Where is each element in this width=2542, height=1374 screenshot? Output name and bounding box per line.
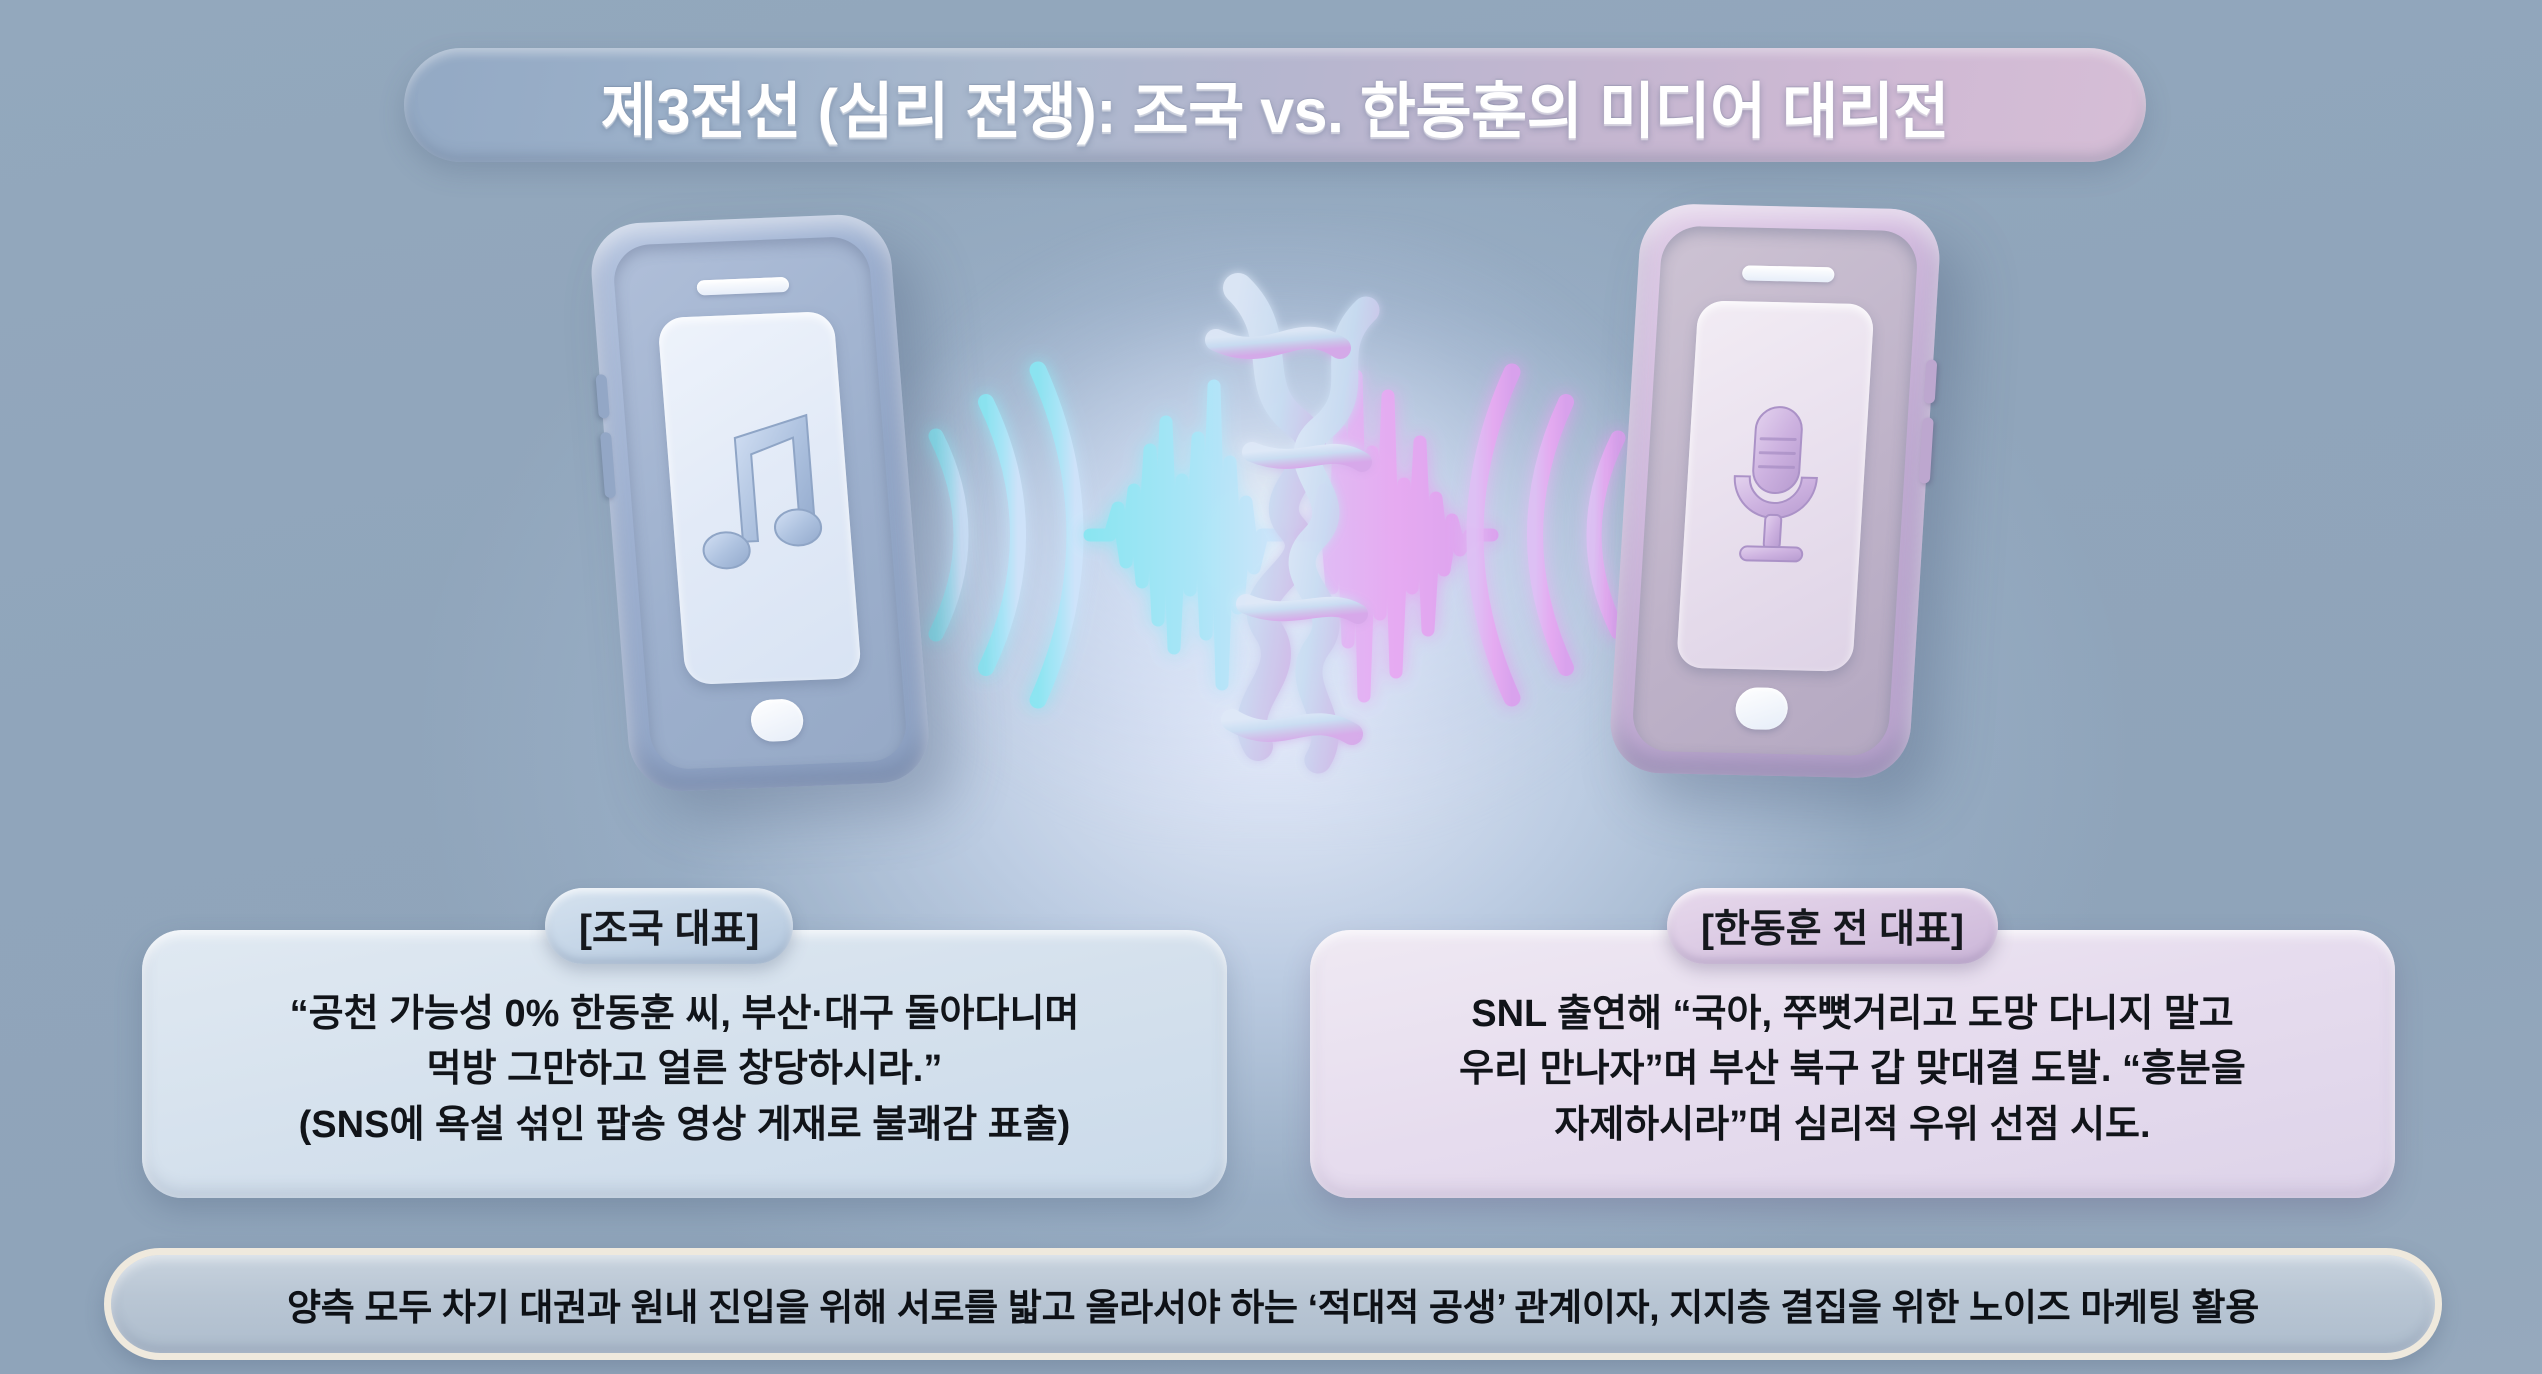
right-phone-side-button-1 xyxy=(1924,359,1938,403)
center-glow xyxy=(880,220,1670,840)
left-speaker-badge-label: [조국 대표] xyxy=(579,898,759,954)
slide-title-bar: 제3전선 (심리 전쟁): 조국 vs. 한동훈의 미디어 대리전 xyxy=(404,48,2146,162)
music-note-icon xyxy=(677,400,842,595)
bottom-summary-banner: 양측 모두 차기 대권과 원내 진입을 위해 서로를 밟고 올라서야 하는 ‘적… xyxy=(104,1248,2442,1360)
left-phone-speaker-grille xyxy=(696,277,789,296)
right-phone-home-button xyxy=(1734,687,1789,730)
left-phone-device xyxy=(588,213,933,793)
right-quote-text: SNL 출연해 “국아, 쭈뼛거리고 도망 다니지 말고 우리 만나자”며 부산… xyxy=(1459,987,2246,1153)
right-phone-bezel xyxy=(1631,226,1919,757)
central-illustration xyxy=(0,190,2542,880)
left-speaker-badge: [조국 대표] xyxy=(545,888,793,964)
left-phone-screen xyxy=(657,311,862,685)
left-quote-card: “공천 가능성 0% 한동훈 씨, 부산·대구 돌아다니며 먹방 그만하고 얼른… xyxy=(142,930,1227,1198)
left-phone-home-button xyxy=(749,698,804,742)
right-speaker-badge-label: [한동훈 전 대표] xyxy=(1701,898,1964,954)
sound-wave-collision xyxy=(0,190,2542,880)
bottom-summary-text: 양측 모두 차기 대권과 원내 진입을 위해 서로를 밟고 올라서야 하는 ‘적… xyxy=(287,1277,2259,1331)
right-quote-card: SNL 출연해 “국아, 쭈뼛거리고 도망 다니지 말고 우리 만나자”며 부산… xyxy=(1310,930,2395,1198)
page-title: 제3전선 (심리 전쟁): 조국 vs. 한동훈의 미디어 대리전 xyxy=(601,61,1949,150)
left-phone-side-button-1 xyxy=(595,374,609,418)
right-phone-screen xyxy=(1676,300,1875,671)
right-speaker-badge: [한동훈 전 대표] xyxy=(1667,888,1998,964)
left-phone-bezel xyxy=(611,236,908,771)
right-phone-speaker-grille xyxy=(1742,265,1835,282)
left-phone-side-button-2 xyxy=(600,432,616,498)
right-phone-side-button-2 xyxy=(1919,417,1934,483)
right-phone-body xyxy=(1608,203,1943,779)
right-phone-device xyxy=(1608,203,1943,779)
left-phone-body xyxy=(588,213,933,793)
infographic-slide: 제3전선 (심리 전쟁): 조국 vs. 한동훈의 미디어 대리전 xyxy=(0,0,2542,1374)
microphone-icon xyxy=(1694,389,1856,582)
left-quote-text: “공천 가능성 0% 한동훈 씨, 부산·대구 돌아다니며 먹방 그만하고 얼른… xyxy=(290,987,1080,1153)
